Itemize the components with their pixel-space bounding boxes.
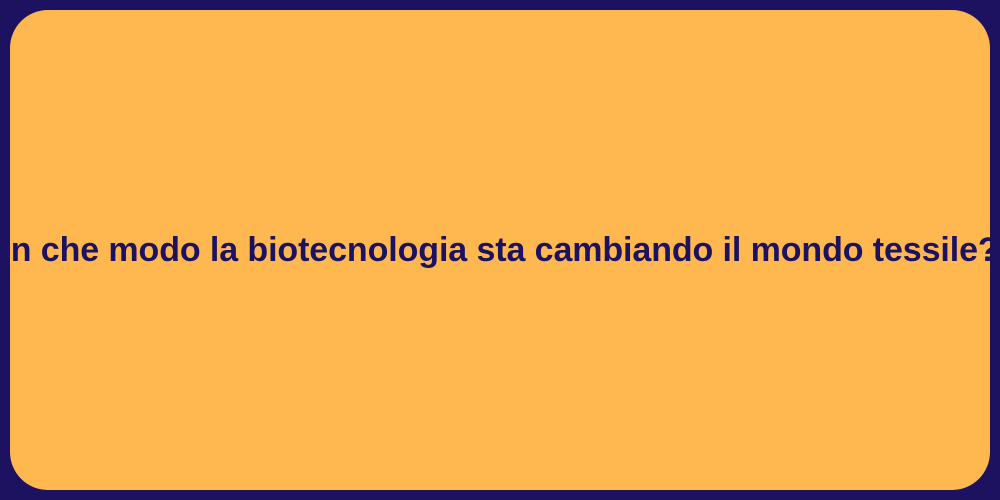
question-card-frame: In che modo la biotecnologia sta cambian… bbox=[0, 0, 1000, 500]
question-card-panel: In che modo la biotecnologia sta cambian… bbox=[10, 10, 990, 490]
question-heading: In che modo la biotecnologia sta cambian… bbox=[1, 229, 998, 272]
